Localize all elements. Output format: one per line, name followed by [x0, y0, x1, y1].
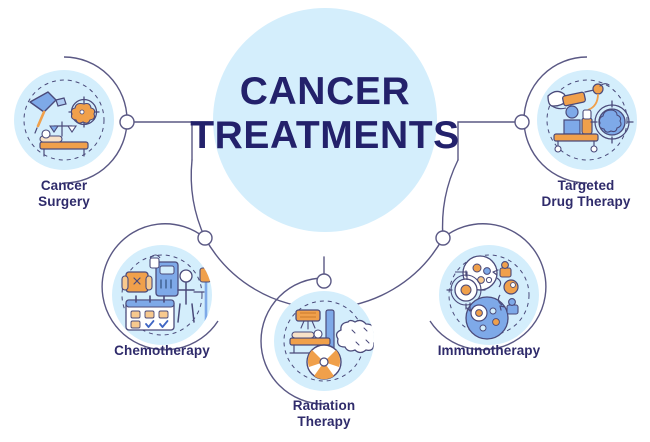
page-title: CANCER TREATMENTS — [145, 70, 505, 157]
node-radiation-therapy[interactable] — [274, 291, 377, 391]
node-label-cancer-surgery: Cancer Surgery — [4, 178, 124, 210]
connector-dot-chemotherapy[interactable] — [198, 231, 212, 245]
arc-left-upper — [191, 160, 205, 238]
node-chemotherapy[interactable] — [112, 245, 212, 345]
node-targeted-drug-therapy[interactable] — [537, 70, 637, 170]
diagram-svg — [0, 0, 650, 442]
connector-dot-radiation-therapy[interactable] — [317, 274, 331, 288]
node-label-targeted-drug-therapy: Targeted Drug Therapy — [522, 178, 650, 210]
arc-right-upper — [443, 160, 458, 238]
infographic-canvas: CANCER TREATMENTS Cancer Surgery Chemoth… — [0, 0, 650, 442]
node-cancer-surgery[interactable] — [14, 70, 114, 170]
node-label-radiation-therapy: Radiation Therapy — [264, 398, 384, 430]
connector-dot-cancer-surgery[interactable] — [120, 115, 134, 129]
node-circle-cancer-surgery — [14, 70, 114, 170]
node-label-chemotherapy: Chemotherapy — [92, 343, 232, 359]
node-immunotherapy[interactable] — [439, 245, 539, 345]
connector-dot-targeted-drug-therapy[interactable] — [515, 115, 529, 129]
node-label-immunotherapy: Immunotherapy — [419, 343, 559, 359]
connector-dot-immunotherapy[interactable] — [436, 231, 450, 245]
